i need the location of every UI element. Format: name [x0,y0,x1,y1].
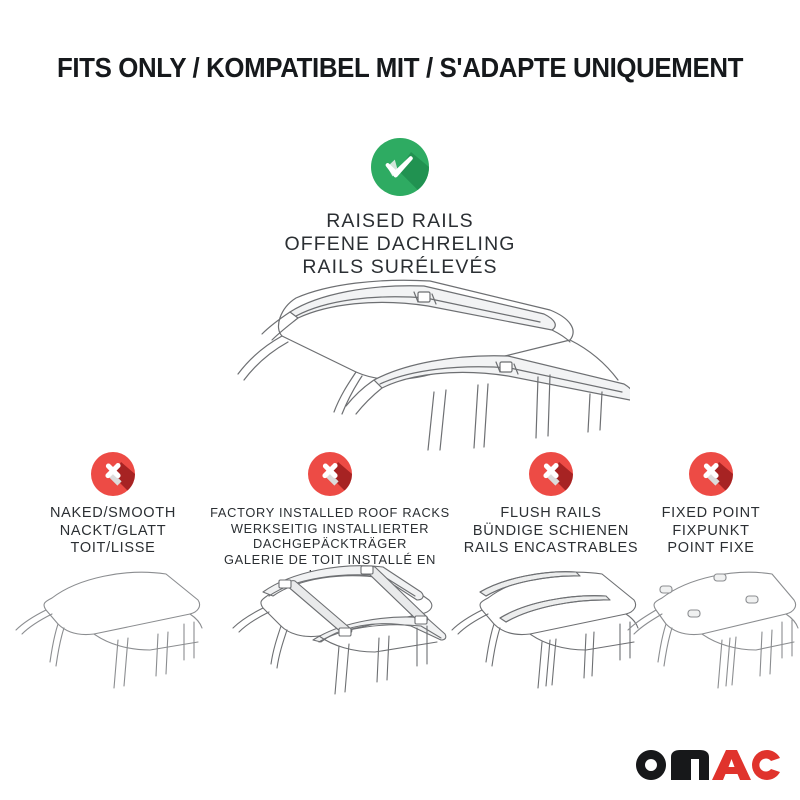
x-circle-icon [689,452,733,496]
omac-logo [634,748,782,782]
x-circle-icon [529,452,573,496]
rejected-label-line: BÜNDIGE SCHIENEN [452,523,650,541]
rejected-label-line: FACTORY INSTALLED ROOF RACKS [208,505,452,521]
car-roof-naked-smooth-illustration [8,556,204,692]
rejected-labels: FIXED POINT FIXPUNKT POINT FIXE [631,505,791,558]
rejected-label-line: TOIT/LISSE [13,540,213,558]
car-roof-factory-roof-racks-illustration [215,548,447,696]
rejected-label-line: RAILS ENCASTRABLES [452,540,650,558]
car-roof-raised-rails-illustration [178,272,630,452]
compatibility-infographic: FITS ONLY / KOMPATIBEL MIT / S'ADAPTE UN… [0,0,800,800]
rejected-labels: NAKED/SMOOTH NACKT/GLATT TOIT/LISSE [13,505,213,558]
car-roof-fixed-point-illustration [622,556,800,692]
rejected-label-line: NAKED/SMOOTH [13,505,213,523]
rejected-item-naked-smooth: NAKED/SMOOTH NACKT/GLATT TOIT/LISSE [13,452,213,558]
rejected-label-line: NACKT/GLATT [13,523,213,541]
approved-label-de: OFFENE DACHRELING [0,233,800,256]
rejected-label-line: FIXED POINT [631,505,791,523]
x-circle-icon [91,452,135,496]
approved-label-en: RAISED RAILS [0,210,800,233]
rejected-labels: FLUSH RAILS BÜNDIGE SCHIENEN RAILS ENCAS… [452,505,650,558]
rejected-label-line: POINT FIXE [631,540,791,558]
rejected-label-line: FLUSH RAILS [452,505,650,523]
approved-labels: RAISED RAILS OFFENE DACHRELING RAILS SUR… [0,210,800,279]
car-roof-flush-rails-illustration [444,556,640,692]
approved-section: RAISED RAILS OFFENE DACHRELING RAILS SUR… [0,138,800,279]
page-title: FITS ONLY / KOMPATIBEL MIT / S'ADAPTE UN… [24,52,776,84]
rejected-label-line: WERKSEITIG INSTALLIERTER [208,521,452,537]
rejected-item-flush-rails: FLUSH RAILS BÜNDIGE SCHIENEN RAILS ENCAS… [452,452,650,558]
x-circle-icon [308,452,352,496]
rejected-label-line: FIXPUNKT [631,523,791,541]
rejected-item-fixed-point: FIXED POINT FIXPUNKT POINT FIXE [631,452,791,558]
check-circle-icon [371,138,429,196]
